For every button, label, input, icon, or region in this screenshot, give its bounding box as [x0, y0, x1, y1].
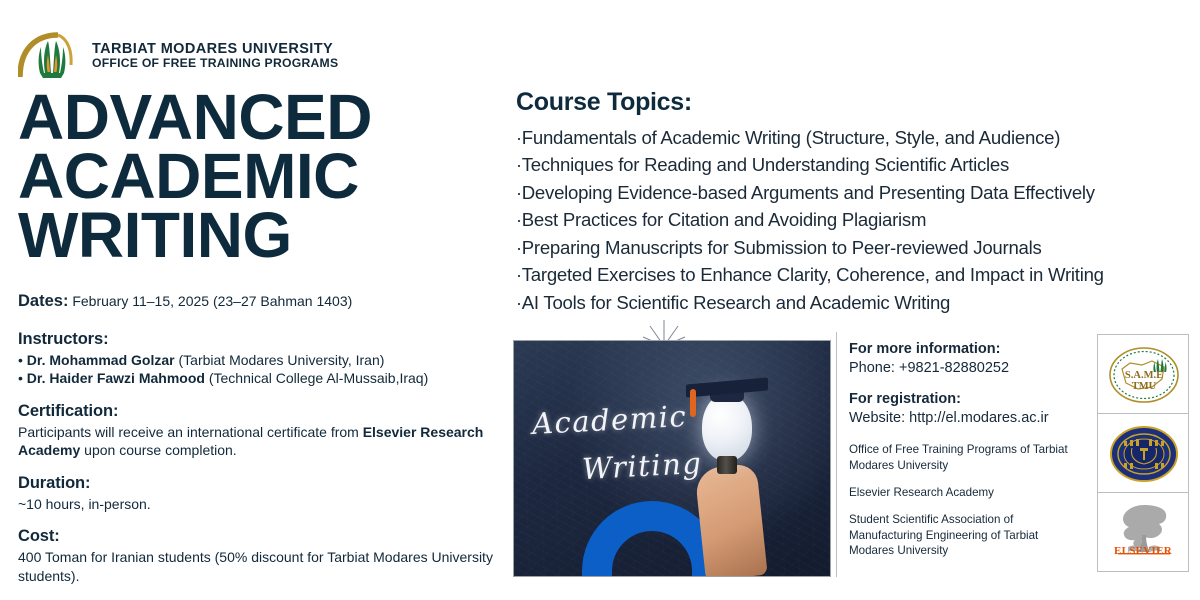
instructor-item: • Dr. Haider Fawzi Mahmood (Technical Co…	[18, 369, 510, 388]
cost-label: Cost:	[18, 526, 510, 548]
topic-text: Best Practices for Citation and Avoiding…	[522, 209, 926, 230]
poster-root: TARBIAT MODARES UNIVERSITY OFFICE OF FRE…	[0, 0, 1200, 600]
instructor-affiliation: (Tarbiat Modares University, Iran)	[179, 352, 385, 368]
registration-heading: For registration:	[849, 390, 1079, 409]
elsevier-logo: ELSEVIER	[1097, 492, 1189, 572]
hand-icon	[694, 463, 767, 577]
organizer-student-association: Student Scientific Association of Manufa…	[849, 512, 1079, 558]
chalk-text-writing: Writing	[581, 446, 703, 486]
certification-text: Participants will receive an internation…	[18, 423, 510, 460]
topic-text: AI Tools for Scientific Research and Aca…	[522, 292, 950, 313]
duration-block: Duration: ~10 hours, in-person.	[18, 473, 510, 514]
topic-item: ·Targeted Exercises to Enhance Clarity, …	[516, 261, 1198, 288]
instructors-block: Instructors: • Dr. Mohammad Golzar (Tarb…	[18, 329, 510, 388]
course-topics-section: Course Topics: ·Fundamentals of Academic…	[516, 88, 1198, 316]
duration-value: ~10 hours, in-person.	[18, 495, 510, 514]
instructor-name: Dr. Mohammad Golzar	[27, 352, 175, 368]
course-details: Dates: February 11–15, 2025 (23–27 Bahma…	[18, 291, 510, 586]
website-link[interactable]: Website: http://el.modares.ac.ir	[849, 409, 1079, 428]
photo-frame: Academic Writing	[513, 340, 831, 577]
brand-university-name: TARBIAT MODARES UNIVERSITY	[92, 41, 338, 57]
lightbulb-icon	[702, 393, 752, 461]
dates-value: February 11–15, 2025 (23–27 Bahman 1403)	[72, 293, 352, 309]
brand-header: TARBIAT MODARES UNIVERSITY OFFICE OF FRE…	[18, 30, 510, 82]
graduation-cap-tassel	[690, 389, 696, 417]
chalkboard-academic-writing-photo: Academic Writing	[513, 332, 831, 577]
dates-row: Dates: February 11–15, 2025 (23–27 Bahma…	[18, 291, 510, 313]
title-line-1: ADVANCED	[18, 88, 510, 147]
instructors-label: Instructors:	[18, 329, 510, 351]
cost-block: Cost: 400 Toman for Iranian students (50…	[18, 526, 510, 585]
same-seal-text-top: S.A.M.E	[1125, 370, 1163, 381]
contact-section: For more information: Phone: +9821-82880…	[849, 340, 1079, 559]
topic-text: Preparing Manuscripts for Submission to …	[522, 237, 1042, 258]
title-line-2: ACADEMIC	[18, 147, 510, 206]
phone-number: Phone: +9821-82880252	[849, 359, 1079, 378]
course-topics-heading: Course Topics:	[516, 88, 1198, 117]
elsevier-wordmark: ELSEVIER	[1098, 545, 1188, 557]
lightbulb-base	[717, 456, 737, 474]
more-information-heading: For more information:	[849, 340, 1079, 359]
topic-text: Fundamentals of Academic Writing (Struct…	[522, 127, 1060, 148]
topic-item: ·Developing Evidence-based Arguments and…	[516, 179, 1198, 206]
organizer-office: Office of Free Training Programs of Tarb…	[849, 442, 1079, 473]
topic-text: Targeted Exercises to Enhance Clarity, C…	[522, 264, 1104, 285]
certification-label: Certification:	[18, 401, 510, 423]
instructor-item: • Dr. Mohammad Golzar (Tarbiat Modares U…	[18, 351, 510, 370]
topic-item: ·Techniques for Reading and Understandin…	[516, 151, 1198, 178]
tmu-tulip-logo-icon	[18, 31, 82, 81]
topic-item: ·AI Tools for Scientific Research and Ac…	[516, 289, 1198, 316]
title-line-3: WRITING	[18, 206, 510, 265]
instructor-bullet: •	[18, 370, 23, 386]
certification-text-part2: upon course completion.	[80, 442, 236, 458]
certification-block: Certification: Participants will receive…	[18, 401, 510, 460]
dates-label: Dates:	[18, 292, 68, 310]
same-seal-text-bottom: TMU	[1132, 381, 1157, 392]
topic-text: Developing Evidence-based Arguments and …	[522, 182, 1095, 203]
organizer-elsevier: Elsevier Research Academy	[849, 485, 1079, 500]
instructor-name: Dr. Haider Fawzi Mahmood	[27, 370, 205, 386]
duration-label: Duration:	[18, 473, 510, 495]
left-column: TARBIAT MODARES UNIVERSITY OFFICE OF FRE…	[18, 30, 510, 599]
topic-item: ·Best Practices for Citation and Avoidin…	[516, 206, 1198, 233]
brand-office-name: OFFICE OF FREE TRAINING PROGRAMS	[92, 57, 338, 71]
certification-text-part1: Participants will receive an internation…	[18, 424, 363, 440]
al-mussaib-technical-college-seal	[1097, 413, 1189, 493]
same-tmu-seal: S.A.M.E TMU	[1097, 334, 1189, 414]
topic-text: Techniques for Reading and Understanding…	[522, 154, 1009, 175]
instructor-affiliation: (Technical College Al-Mussaib,Iraq)	[209, 370, 428, 386]
vertical-divider	[836, 332, 837, 577]
cost-value: 400 Toman for Iranian students (50% disc…	[18, 548, 510, 585]
topic-item: ·Fundamentals of Academic Writing (Struc…	[516, 124, 1198, 151]
topic-item: ·Preparing Manuscripts for Submission to…	[516, 234, 1198, 261]
page-title: ADVANCED ACADEMIC WRITING	[18, 88, 510, 265]
instructor-bullet: •	[18, 352, 23, 368]
logo-badges: S.A.M.E TMU	[1097, 334, 1189, 571]
